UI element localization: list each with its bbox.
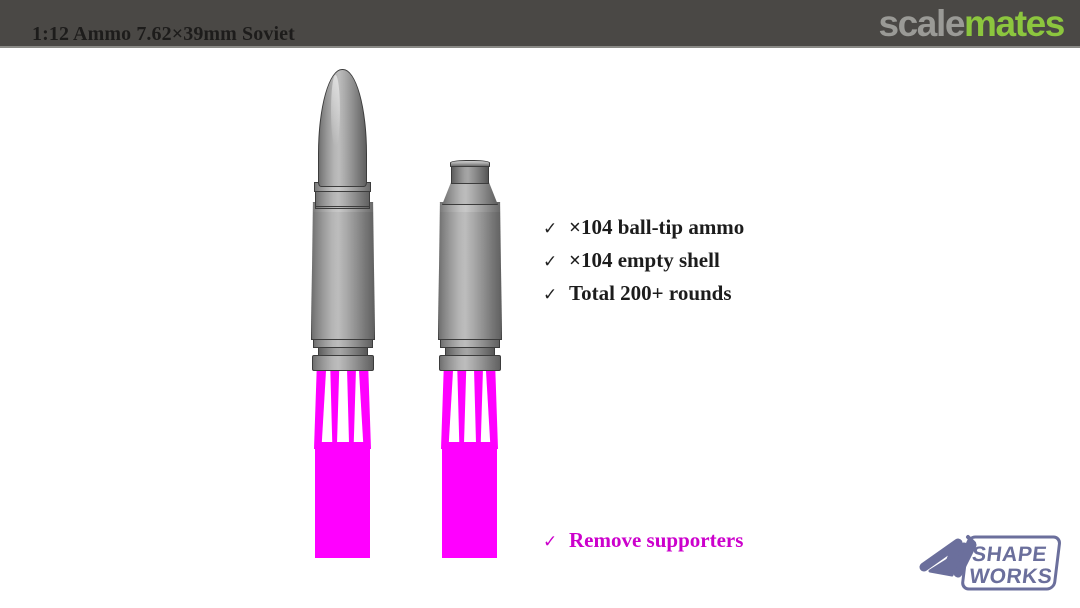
- check-icon: ✓: [543, 532, 569, 552]
- support-cone-right-3: [472, 371, 485, 449]
- case-mouth-opening-right: [450, 160, 490, 167]
- support-cone-right-2: [455, 371, 468, 449]
- case-body-right: [438, 202, 502, 340]
- list-item: ✓ ×104 ball-tip ammo: [543, 215, 873, 240]
- page-title: 1:12 Ammo 7.62×39mm Soviet: [32, 23, 295, 46]
- case-shoulder-taper-right: [442, 181, 498, 205]
- support-cone-right-1: [441, 371, 453, 449]
- vendor-logo-line1: SHAPE: [971, 543, 1049, 566]
- spec-label: ×104 empty shell: [569, 248, 720, 273]
- support-note: ✓ Remove supporters: [543, 528, 743, 553]
- check-icon: ✓: [543, 285, 569, 305]
- list-item: ✓ ×104 empty shell: [543, 248, 873, 273]
- case-neck-right: [451, 164, 489, 184]
- render-canvas: ✓ ×104 ball-tip ammo ✓ ×104 empty shell …: [0, 50, 1080, 608]
- support-raft-block-right: [442, 442, 497, 558]
- brand-logo-part-scale: scale: [878, 3, 964, 44]
- spec-list: ✓ ×104 ball-tip ammo ✓ ×104 empty shell …: [543, 215, 873, 314]
- header-bar: 1:12 Ammo 7.62×39mm Soviet scalemates: [0, 0, 1080, 48]
- check-icon: ✓: [543, 252, 569, 272]
- support-note-label: Remove supporters: [569, 528, 743, 553]
- check-icon: ✓: [543, 219, 569, 239]
- scalemates-logo: scalemates: [878, 3, 1064, 45]
- spec-label: Total 200+ rounds: [569, 281, 732, 306]
- support-cone-right-4: [486, 371, 498, 449]
- js-shapeworks-logo: SHAPE WORKS: [918, 523, 1068, 601]
- spec-label: ×104 ball-tip ammo: [569, 215, 744, 240]
- list-item: ✓ Total 200+ rounds: [543, 281, 873, 306]
- vendor-logo-line2: WORKS: [968, 565, 1054, 588]
- case-base-rim-right: [439, 355, 501, 371]
- brand-logo-part-mates: mates: [964, 3, 1064, 44]
